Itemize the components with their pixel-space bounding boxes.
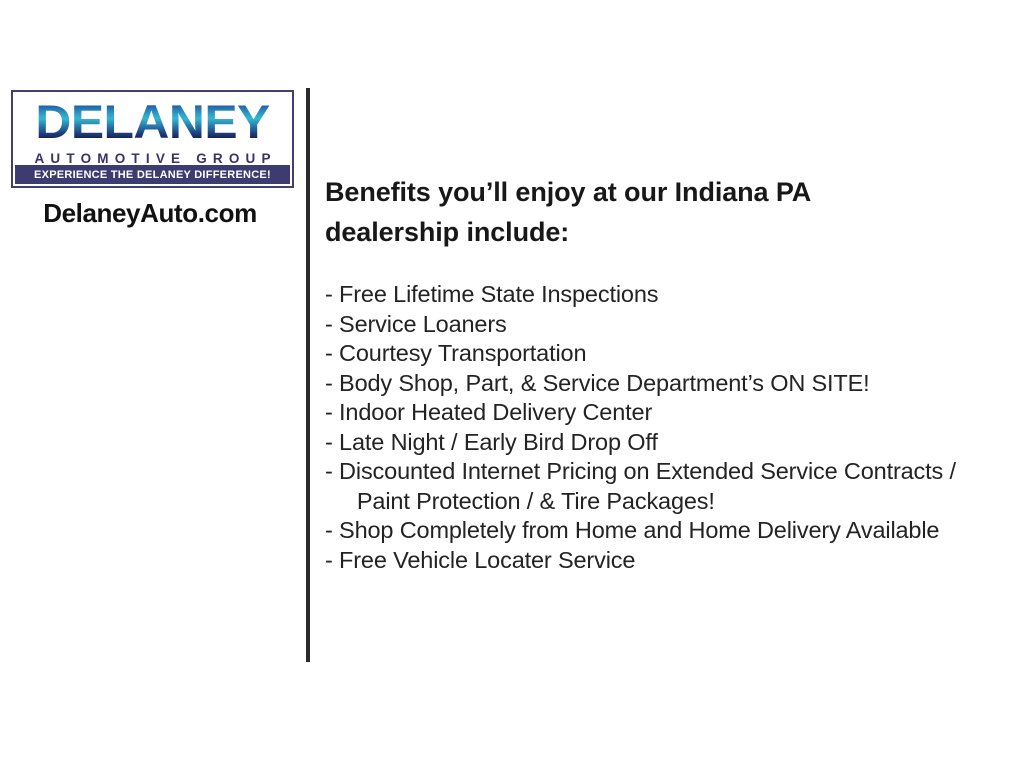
benefit-item: - Indoor Heated Delivery Center [325, 398, 1015, 428]
logo-tagline-bar: EXPERIENCE THE DELANEY DIFFERENCE! [15, 165, 290, 184]
benefit-item: - Shop Completely from Home and Home Del… [325, 516, 1015, 546]
benefit-item: - Free Vehicle Locater Service [325, 546, 1015, 576]
slide-canvas: DELANEY AUTOMOTIVE GROUP EXPERIENCE THE … [0, 0, 1024, 768]
logo-tagline-text: EXPERIENCE THE DELANEY DIFFERENCE! [34, 169, 271, 181]
benefit-item: - Discounted Internet Pricing on Extende… [325, 457, 1015, 516]
brand-website-url: DelaneyAuto.com [0, 198, 300, 229]
benefit-item: - Courtesy Transportation [325, 339, 1015, 369]
delaney-logo: DELANEY AUTOMOTIVE GROUP EXPERIENCE THE … [11, 90, 294, 188]
benefit-item: - Free Lifetime State Inspections [325, 280, 1015, 310]
brand-column: DELANEY AUTOMOTIVE GROUP EXPERIENCE THE … [0, 88, 300, 248]
benefit-item: - Service Loaners [325, 310, 1015, 340]
vertical-divider [306, 88, 310, 662]
benefit-item: - Body Shop, Part, & Service Department’… [325, 369, 1015, 399]
logo-wordmark: DELANEY [13, 93, 292, 149]
benefit-item: - Late Night / Early Bird Drop Off [325, 428, 1015, 458]
benefits-list: - Free Lifetime State Inspections - Serv… [325, 280, 1015, 575]
benefits-heading: Benefits you’ll enjoy at our Indiana PA … [325, 172, 855, 252]
logo-wordmark-text: DELANEY [35, 98, 269, 145]
benefits-content: Benefits you’ll enjoy at our Indiana PA … [325, 172, 1015, 575]
